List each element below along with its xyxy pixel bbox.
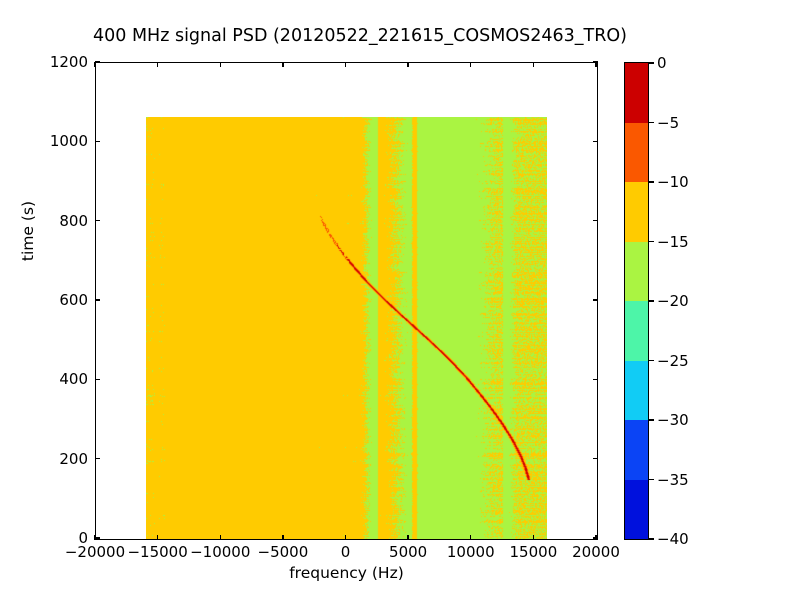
x-tick-mark: [94, 62, 95, 67]
y-tick-mark: [95, 220, 100, 221]
x-tick-mark: [282, 62, 283, 67]
x-tick-mark: [345, 62, 346, 67]
x-tick-mark: [470, 535, 471, 540]
colorbar-tick-mark: [649, 122, 654, 123]
colorbar-tick-mark: [649, 538, 654, 539]
y-tick-mark: [593, 141, 598, 142]
colorbar-tick-label: −40: [657, 530, 689, 548]
colorbar-band: [625, 242, 648, 302]
x-tick-label: 0: [341, 543, 351, 561]
y-tick-mark: [95, 299, 100, 300]
x-tick-mark: [282, 535, 283, 540]
y-tick-label: 400: [59, 370, 88, 388]
colorbar-tick-mark: [649, 360, 654, 361]
y-tick-label: 1000: [50, 132, 88, 150]
spectrogram-image: [146, 117, 547, 539]
y-axis-label: time (s): [19, 141, 37, 321]
colorbar-tick-mark: [649, 181, 654, 182]
x-tick-mark: [407, 535, 408, 540]
y-tick-mark: [95, 379, 100, 380]
x-tick-label: −20000: [65, 543, 125, 561]
x-axis-label: frequency (Hz): [95, 564, 598, 582]
x-tick-mark: [407, 62, 408, 67]
y-tick-mark: [95, 537, 100, 538]
page-title: 400 MHz signal PSD (20120522_221615_COSM…: [0, 26, 720, 46]
colorbar-tick-mark: [649, 300, 654, 301]
y-tick-label: 1200: [50, 53, 88, 71]
colorbar-band: [625, 301, 648, 361]
colorbar-tick-label: −5: [657, 114, 679, 132]
x-tick-label: 20000: [572, 543, 620, 561]
y-tick-mark: [95, 141, 100, 142]
colorbar-tick-label: −15: [657, 233, 689, 251]
x-tick-label: 10000: [447, 543, 495, 561]
colorbar-band: [625, 123, 648, 183]
x-tick-mark: [157, 62, 158, 67]
colorbar-tick-label: −30: [657, 411, 689, 429]
colorbar-band: [625, 182, 648, 242]
colorbar-tick-mark: [649, 241, 654, 242]
x-tick-label: 15000: [510, 543, 558, 561]
x-tick-mark: [345, 535, 346, 540]
x-tick-label: −5000: [258, 543, 309, 561]
colorbar-tick-mark: [649, 419, 654, 420]
y-tick-mark: [593, 220, 598, 221]
colorbar-tick-label: −35: [657, 471, 689, 489]
y-tick-label: 200: [59, 450, 88, 468]
x-tick-mark: [533, 535, 534, 540]
x-tick-mark: [94, 535, 95, 540]
x-tick-label: 5000: [389, 543, 427, 561]
colorbar-band: [625, 480, 648, 540]
colorbar-tick-mark: [649, 479, 654, 480]
x-tick-label: −15000: [127, 543, 187, 561]
x-tick-mark: [595, 535, 596, 540]
colorbar-band: [625, 361, 648, 421]
colorbar-tick-label: −20: [657, 292, 689, 310]
colorbar-tick-label: −10: [657, 173, 689, 191]
x-tick-mark: [220, 62, 221, 67]
colorbar-tick-label: 0: [657, 54, 667, 72]
colorbar-tick-label: −25: [657, 352, 689, 370]
y-tick-mark: [95, 61, 100, 62]
y-tick-label: 800: [59, 212, 88, 230]
y-tick-mark: [593, 458, 598, 459]
colorbar-band: [625, 420, 648, 480]
x-tick-label: −10000: [190, 543, 250, 561]
figure-canvas: 400 MHz signal PSD (20120522_221615_COSM…: [0, 0, 800, 600]
y-tick-mark: [593, 379, 598, 380]
x-tick-mark: [533, 62, 534, 67]
y-tick-mark: [593, 299, 598, 300]
spectrogram-axes[interactable]: [95, 62, 598, 540]
x-tick-mark: [157, 535, 158, 540]
colorbar-band: [625, 63, 648, 123]
x-tick-mark: [220, 535, 221, 540]
colorbar-tick-mark: [649, 62, 654, 63]
y-tick-label: 600: [59, 291, 88, 309]
colorbar[interactable]: [624, 62, 649, 540]
x-tick-mark: [470, 62, 471, 67]
x-tick-mark: [595, 62, 596, 67]
y-tick-mark: [95, 458, 100, 459]
